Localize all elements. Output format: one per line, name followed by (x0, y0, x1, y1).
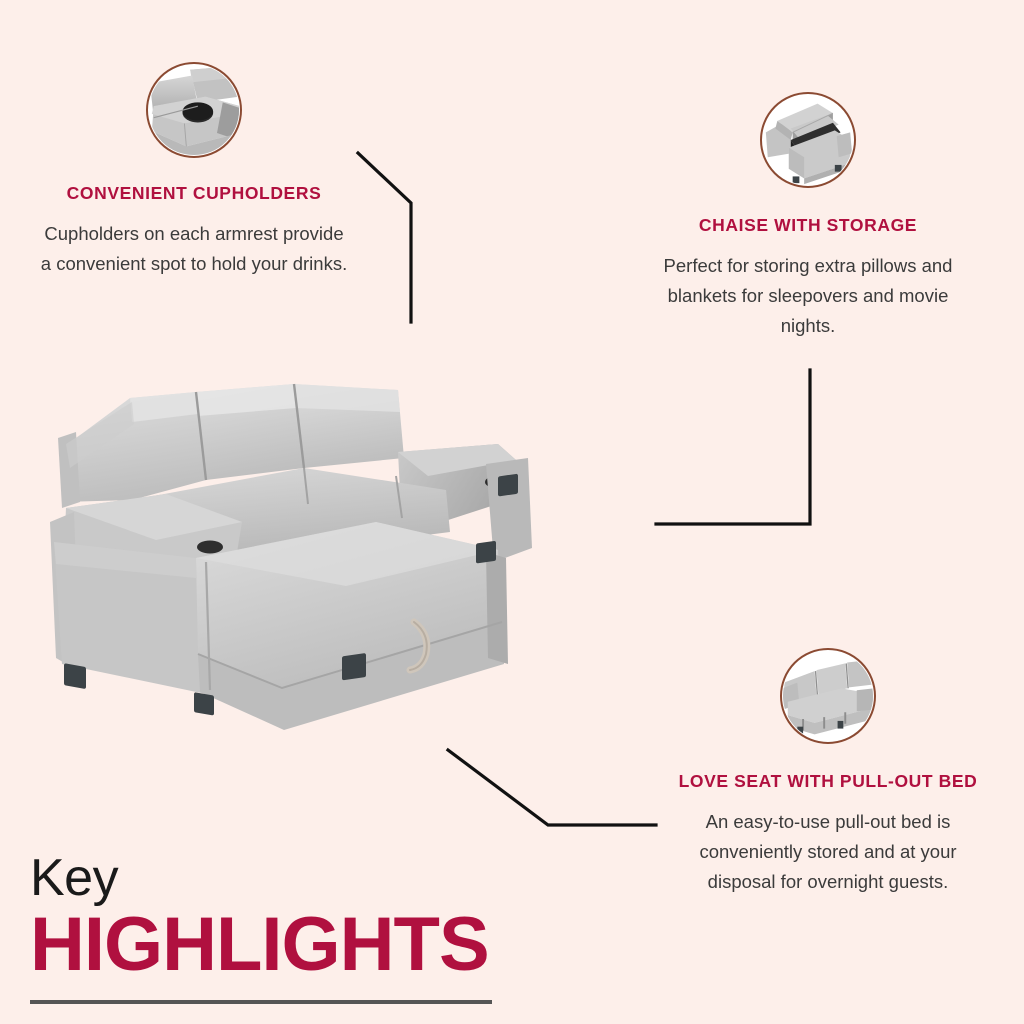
feature-title: CONVENIENT CUPHOLDERS (38, 182, 350, 205)
cupholder-armrest-icon (146, 62, 242, 158)
feature-chaise-storage: CHAISE WITH STORAGE Perfect for storing … (648, 92, 968, 341)
feature-pullout-bed: LOVE SEAT WITH PULL-OUT BED An easy-to-u… (678, 648, 978, 897)
connector-cupholders (358, 153, 411, 322)
product-photo-sectional-sofa (46, 372, 556, 744)
feature-description: An easy-to-use pull-out bed is convenien… (678, 807, 978, 897)
page-title-highlights: HIGHLIGHTS (30, 906, 500, 984)
infographic-canvas: CONVENIENT CUPHOLDERS Cupholders on each… (0, 0, 1024, 1024)
feature-cupholders: CONVENIENT CUPHOLDERS Cupholders on each… (38, 62, 350, 279)
feature-description: Cupholders on each armrest provide a con… (38, 219, 350, 279)
chaise-open-storage-icon (760, 92, 856, 188)
title-divider (30, 1000, 492, 1004)
page-title-key: Key (30, 852, 500, 904)
page-title-block: Key HIGHLIGHTS (30, 852, 500, 1004)
feature-title: LOVE SEAT WITH PULL-OUT BED (678, 770, 978, 793)
feature-title: CHAISE WITH STORAGE (648, 214, 968, 237)
connector-pullout (448, 750, 656, 825)
feature-description: Perfect for storing extra pillows and bl… (648, 251, 968, 341)
loveseat-pullout-bed-icon (780, 648, 876, 744)
connector-chaise (656, 370, 810, 524)
